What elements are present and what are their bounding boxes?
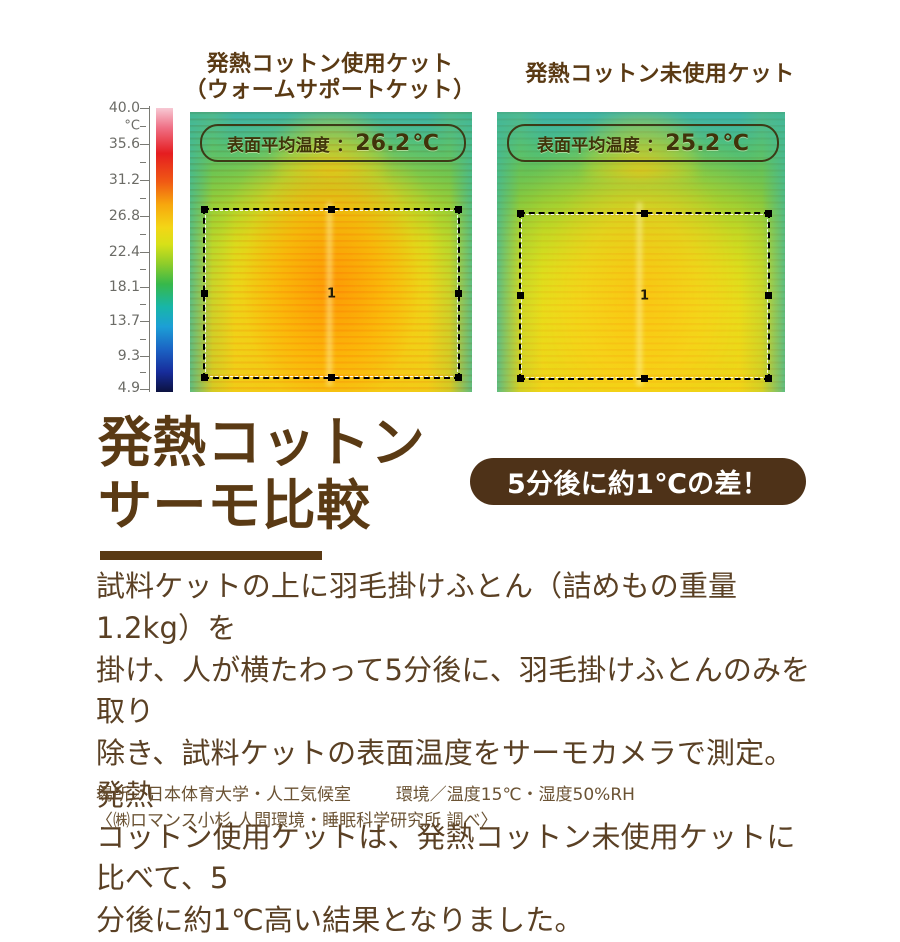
scale-tick-9-3: 9.3 [118, 348, 140, 364]
roi-handle-top-right[interactable] [765, 210, 772, 217]
panel-title-right: 発熱コットン未使用ケット [495, 62, 825, 88]
thermal-comparison-section: 発熱コットン使用ケット （ウォームサポートケット） 発熱コットン未使用ケット 4… [0, 0, 900, 400]
temperature-color-scale: 40.0 °C 35.6 31.2 26.8 22.4 18.1 13.7 9.… [92, 104, 188, 394]
roi-rectangle-left[interactable]: 1 [203, 208, 460, 379]
roi-handle-bottom-right[interactable] [455, 374, 462, 381]
scale-tick-18-1: 18.1 [109, 279, 140, 295]
roi-handle-bottom-left[interactable] [201, 374, 208, 381]
roi-handle-top-middle[interactable] [641, 210, 648, 217]
roi-handle-middle-left[interactable] [517, 292, 524, 299]
readout-value-right: 25.2 [665, 131, 720, 156]
roi-rectangle-right[interactable]: 1 [519, 212, 770, 380]
roi-handle-middle-right[interactable] [765, 292, 772, 299]
footnote-environment: 環境／温度15℃・湿度50%RH [396, 785, 635, 805]
scale-tick-31-2: 31.2 [109, 172, 140, 188]
readout-label-left: 表面平均温度 ： [227, 131, 353, 156]
thermal-image-right: 表面平均温度 ： 25.2 ℃ 1 [497, 112, 785, 392]
roi-handle-middle-right[interactable] [455, 290, 462, 297]
highlight-badge: 5分後に約1℃の差！ [470, 458, 806, 505]
readout-label-right: 表面平均温度 ： [537, 131, 663, 156]
scale-tick-35-6: 35.6 [109, 136, 140, 152]
roi-handle-top-left[interactable] [201, 206, 208, 213]
roi-label-right: 1 [640, 289, 649, 304]
panel-title-left-line2: （ウォームサポートケット） [150, 78, 510, 104]
panel-title-left: 発熱コットン使用ケット （ウォームサポートケット） [150, 52, 510, 104]
description-text: 試料ケットの上に羽毛掛けふとん（詰めもの重量1.2kg）を 掛け、人が横たわって… [96, 566, 812, 942]
colorbar-gradient [156, 108, 173, 392]
readout-unit-right: ℃ [722, 131, 749, 156]
title-underline-rule [100, 551, 322, 560]
roi-handle-bottom-right[interactable] [765, 375, 772, 382]
page-title-line1: 発熱コットン [98, 411, 425, 474]
roi-label-left: 1 [327, 286, 336, 301]
roi-handle-top-left[interactable] [517, 210, 524, 217]
footnote-source: 〈㈱ロマンス小杉 人間環境・睡眠科学研究所 調べ〉 [96, 808, 856, 834]
readout-unit-left: ℃ [412, 131, 439, 156]
page-title: 発熱コットン サーモ比較 [98, 412, 425, 537]
roi-handle-bottom-left[interactable] [517, 375, 524, 382]
scale-tick-40-0: 40.0 [109, 100, 140, 116]
footnote-place: 場所／日本体育大学・人工気候室 [96, 785, 351, 805]
readout-pill-left: 表面平均温度 ： 26.2 ℃ [200, 124, 466, 162]
roi-handle-top-middle[interactable] [328, 206, 335, 213]
roi-handle-bottom-middle[interactable] [641, 375, 648, 382]
scale-tick-22-4: 22.4 [109, 244, 140, 260]
scale-tick-labels: 40.0 °C 35.6 31.2 26.8 22.4 18.1 13.7 9.… [92, 104, 140, 394]
description-line-1: 試料ケットの上に羽毛掛けふとん（詰めもの重量1.2kg）を [96, 566, 812, 650]
thermal-image-left: 表面平均温度 ： 26.2 ℃ 1 [190, 112, 472, 392]
readout-value-left: 26.2 [355, 131, 410, 156]
panel-title-right-line1: 発熱コットン未使用ケット [525, 62, 794, 87]
footnote-row-conditions: 場所／日本体育大学・人工気候室 環境／温度15℃・湿度50%RH [96, 782, 856, 808]
scale-tick-26-8: 26.8 [109, 208, 140, 224]
panel-title-left-line1: 発熱コットン使用ケット [207, 52, 454, 77]
description-line-2: 掛け、人が横たわって5分後に、羽毛掛けふとんのみを取り [96, 650, 812, 734]
scale-tick-13-7: 13.7 [109, 313, 140, 329]
page-title-line2: サーモ比較 [98, 475, 425, 538]
scale-tick-4-9: 4.9 [118, 380, 140, 396]
roi-handle-bottom-middle[interactable] [328, 374, 335, 381]
page-root: 発熱コットン使用ケット （ウォームサポートケット） 発熱コットン未使用ケット 4… [0, 0, 900, 900]
scale-unit-label: °C [124, 119, 140, 134]
readout-pill-right: 表面平均温度 ： 25.2 ℃ [507, 124, 779, 162]
description-line-5: 分後に約1℃高い結果となりました。 [96, 900, 812, 942]
roi-handle-middle-left[interactable] [201, 290, 208, 297]
roi-handle-top-right[interactable] [455, 206, 462, 213]
footnote: 場所／日本体育大学・人工気候室 環境／温度15℃・湿度50%RH 〈㈱ロマンス小… [96, 782, 856, 835]
scale-axis-line [149, 106, 150, 392]
